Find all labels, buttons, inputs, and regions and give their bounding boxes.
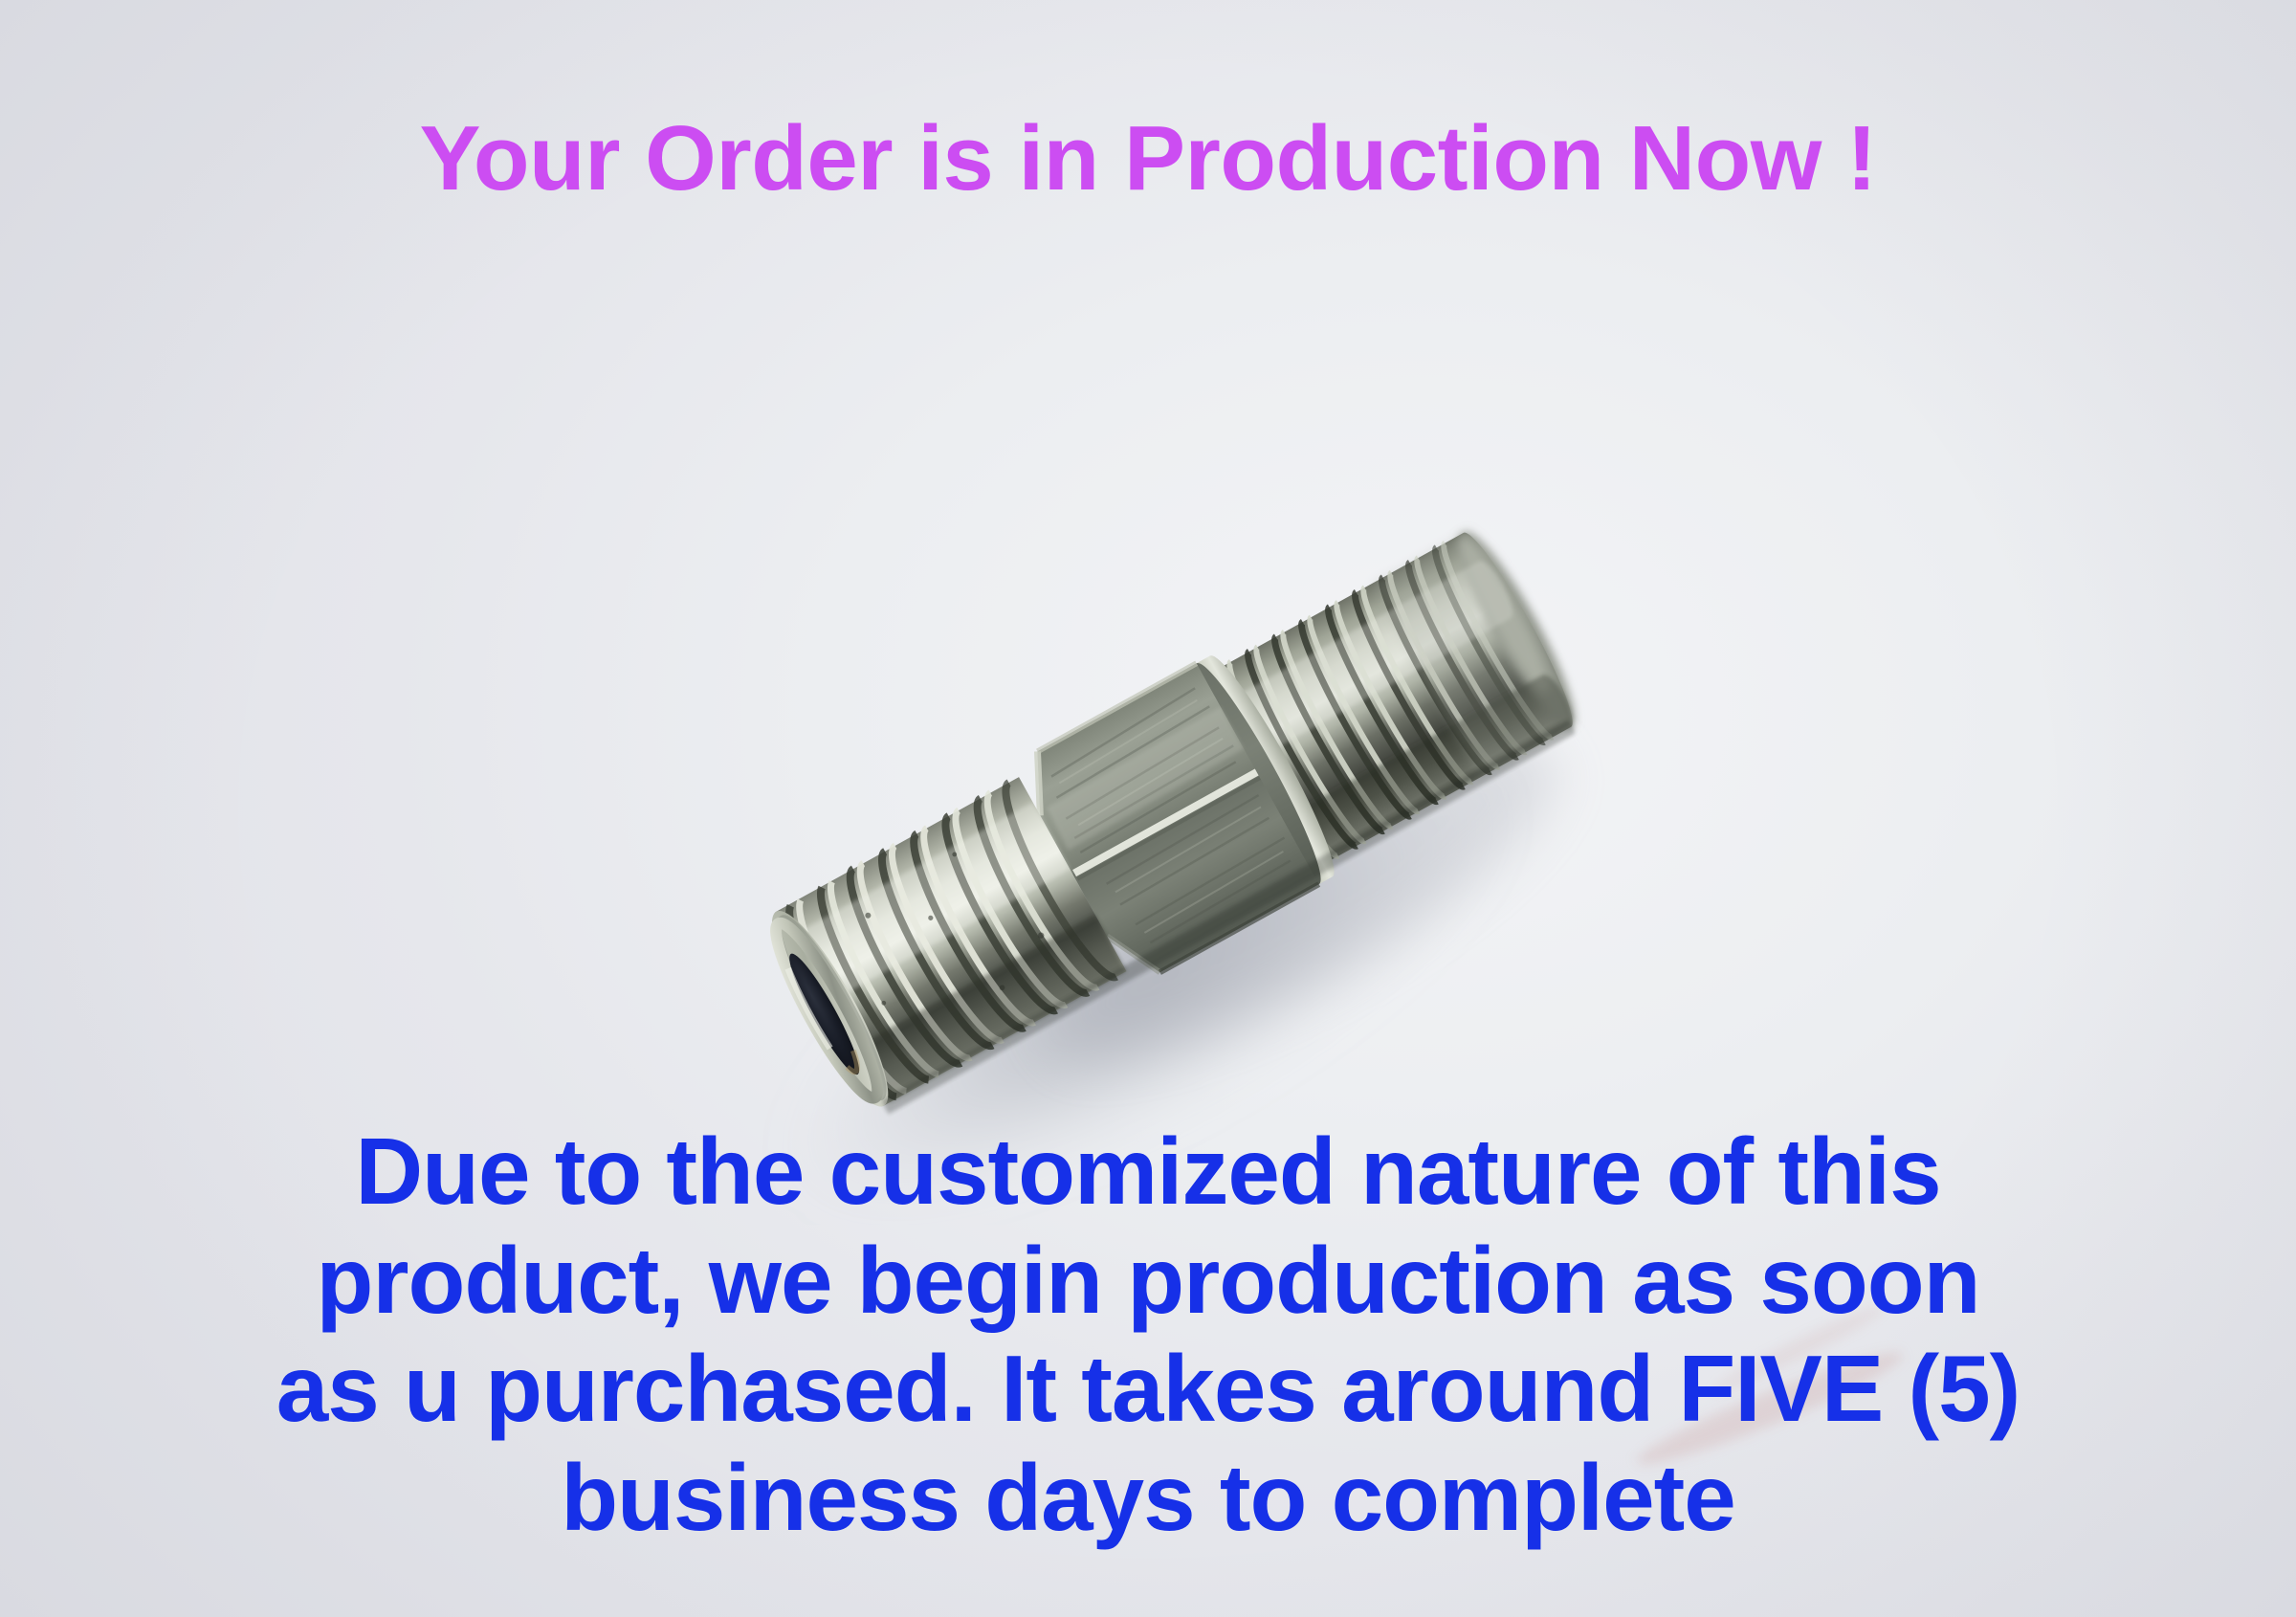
- production-notice: Due to the customized nature of this pro…: [0, 1118, 2296, 1553]
- notice-line-2: product, we begin production as soon: [0, 1227, 2296, 1336]
- page-title: Your Order is in Production Now !: [0, 113, 2296, 205]
- promo-image: Your Order is in Production Now ! Due to…: [0, 0, 2296, 1617]
- product-photo-hex-pipe-nipple: [612, 421, 1741, 1225]
- notice-line-1: Due to the customized nature of this: [0, 1118, 2296, 1227]
- notice-line-3: as u purchased. It takes around FIVE (5): [0, 1335, 2296, 1444]
- notice-line-4: business days to complete: [0, 1444, 2296, 1553]
